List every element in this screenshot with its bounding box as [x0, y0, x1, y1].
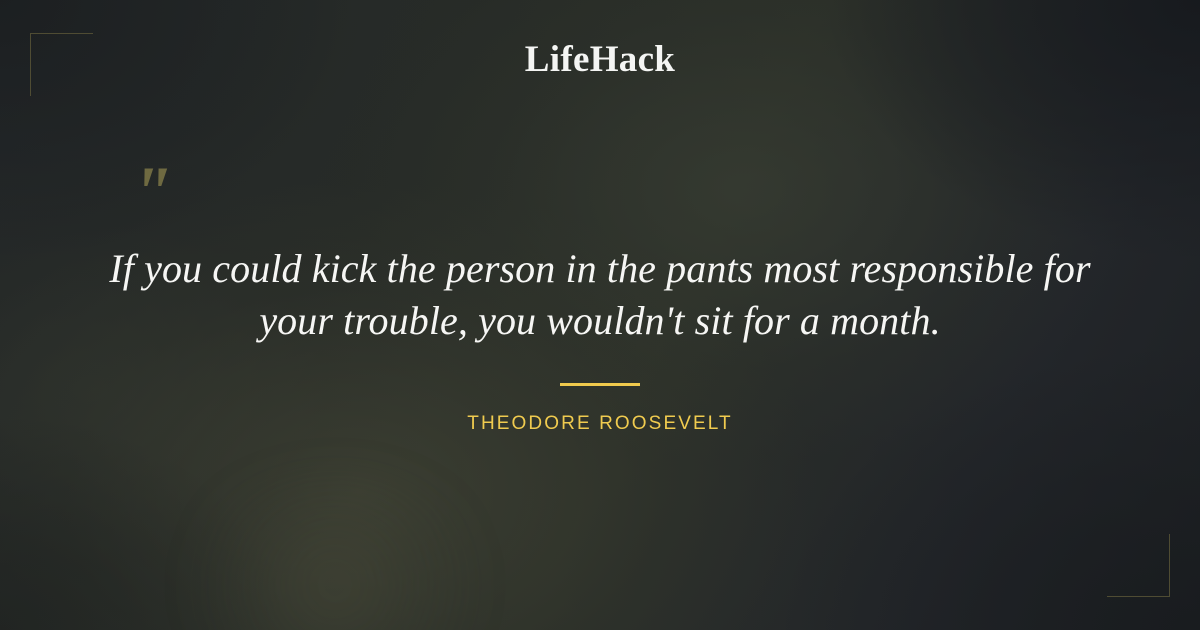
quote-line: your trouble, you wouldn't sit for a mon… [90, 295, 1110, 347]
quote-line: If you could kick the person in the pant… [90, 243, 1110, 295]
double-quote-icon: " [131, 156, 172, 230]
quote-author: THEODORE ROOSEVELT [0, 413, 1200, 435]
gold-divider [560, 383, 640, 386]
brand-logo[interactable]: LifeHack [0, 38, 1200, 81]
quote-text: If you could kick the person in the pant… [90, 243, 1110, 347]
quote-card: LifeHack " If you could kick the person … [0, 0, 1200, 630]
